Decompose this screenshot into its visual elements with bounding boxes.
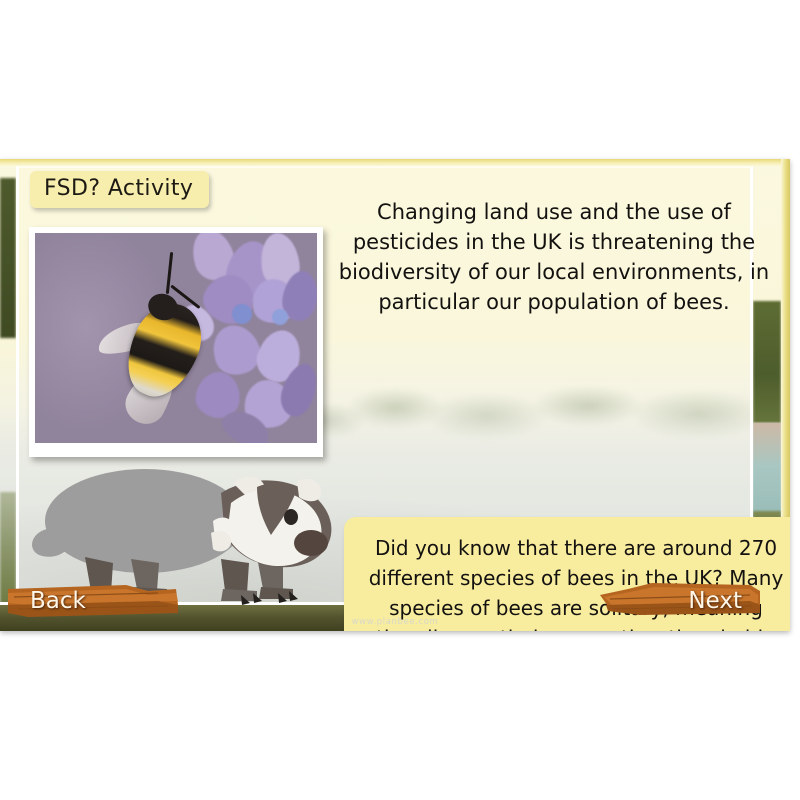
lavender-petal — [272, 309, 288, 325]
next-button-label: Next — [688, 588, 742, 614]
lesson-slide: FSD? Activity — [0, 159, 790, 631]
site-watermark: www.planbee.com — [0, 617, 790, 627]
activity-title-label: FSD? Activity — [44, 176, 193, 201]
left-tree — [0, 178, 16, 338]
bee-photo-frame — [29, 227, 323, 457]
left-scenery-strip — [0, 159, 16, 631]
back-button-label: Back — [30, 588, 86, 614]
slide-stage: FSD? Activity — [0, 0, 800, 800]
top-edge — [0, 159, 790, 166]
right-trees — [753, 301, 781, 424]
lead-paragraph: Changing land use and the use of pestici… — [338, 197, 770, 317]
activity-title-tab[interactable]: FSD? Activity — [30, 171, 209, 208]
bee-photo — [35, 233, 317, 443]
